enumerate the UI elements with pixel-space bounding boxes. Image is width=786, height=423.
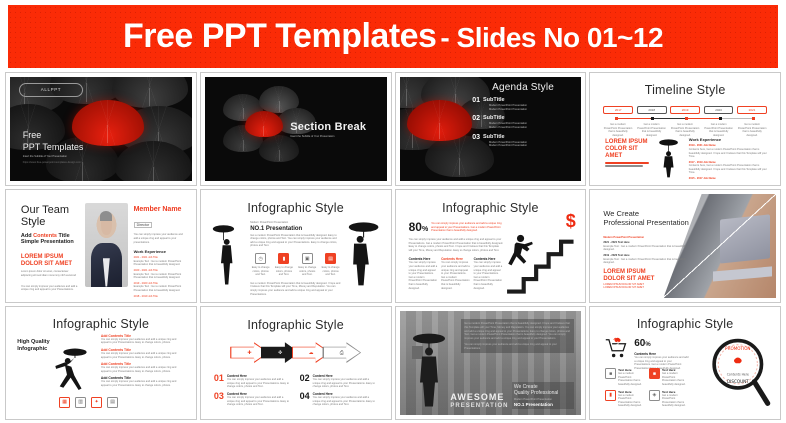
numbered-item: 04 Content Here You can simply impress y… <box>300 392 378 407</box>
slide-11-text-panel: Get a modern PowerPoint Presentation tha… <box>461 319 574 353</box>
slide-11-canvas: Get a modern PowerPoint Presentation tha… <box>400 311 582 415</box>
briefcase-icon: ▮ <box>278 253 289 264</box>
timeline-caption: Get a modern PowerPoint Presentation tha… <box>704 123 733 137</box>
slide-11-right-block: We Create Quality Professional Modern Po… <box>512 382 574 409</box>
slide-11-right-headline: NO.1 Presentation <box>514 402 572 407</box>
clock-icon: ◷ <box>255 253 266 264</box>
arrow-step-4[interactable]: ⎙ <box>322 342 361 363</box>
info-card[interactable]: ▮ Text Here Get a modern PowerPoint Pres… <box>605 390 645 408</box>
timeline-year-badge: 2018 <box>637 106 667 114</box>
monitor-icon: ▣ <box>302 253 313 264</box>
column-body: You can simply impress your audience and… <box>474 261 504 290</box>
slide-11-right-line2: Quality Professional <box>514 390 572 396</box>
member-role: Director <box>134 222 153 228</box>
stat-value: 60% <box>634 338 689 351</box>
slide-11-body: Get a modern PowerPoint Presentation tha… <box>464 322 571 340</box>
banner-title: Free PPT Templates - Slides No 01~12 <box>123 17 663 56</box>
icon-card-caption: Easy to change colors, photos and Text. <box>250 266 271 277</box>
timeline: 2017 2018 2019 2020 2021 Get a modern Po… <box>603 106 767 137</box>
slide-05-body: You can simply impress your audience and… <box>21 285 79 292</box>
slide-02-canvas: Section Break Insert the Subtitle of You… <box>205 77 387 181</box>
timeline-node <box>651 117 654 120</box>
slide-08-eyebrow: Modern PowerPoint Presentation <box>603 236 690 240</box>
slide-06-footer: Get a modern PowerPoint Presentation tha… <box>250 282 341 296</box>
content-row-body: You can simply impress your audience and… <box>101 380 185 387</box>
info-card[interactable]: ■ Text Here Get a modern PowerPoint Pres… <box>649 368 689 386</box>
slide-06-headline: NO.1 Presentation <box>250 226 341 232</box>
slide-02-title-block: Section Break Insert the Subtitle of You… <box>290 121 377 139</box>
slide-thumbnail-12[interactable]: Infographic Style $ 60% Contents Here Yo… <box>589 306 781 420</box>
slide-09-rows: Add Contents Title You can simply impres… <box>101 334 185 388</box>
agenda-item-label: SubTitle <box>483 134 574 140</box>
timeline-caption: Get a modern PowerPoint Presentation tha… <box>737 123 766 137</box>
slide-08-text: We Create Professional Presentation Mode… <box>603 209 690 265</box>
umbrella-dark <box>259 135 299 162</box>
slide-thumbnail-06[interactable]: Infographic Style Modern PowerPoint Pres… <box>200 189 392 303</box>
slide-thumbnail-grid: ALLPPT Free PPT Templates Insert the Sub… <box>5 72 781 420</box>
agenda-item: 02 SubTitle Modern PowerPoint Presentati… <box>472 115 574 129</box>
slide-12-cards: ■ Text Here Get a modern PowerPoint Pres… <box>605 368 689 408</box>
numbered-item-body: You can simply impress your audience and… <box>227 396 292 407</box>
calendar-icon[interactable]: ▥ <box>75 397 86 408</box>
slide-03-canvas: Agenda Style 01 SubTitle Modern PowerPoi… <box>400 77 582 181</box>
slide-08-canvas: We Create Professional Presentation Mode… <box>594 194 776 298</box>
agenda-item-bullet: Modern PowerPoint Presentation <box>489 144 574 148</box>
slide-10-title: Infographic Style <box>205 318 387 332</box>
slide-11-title-line2: PRESENTATION <box>450 403 508 409</box>
experience-desc: Example Text : Get a modern PowerPoint P… <box>134 260 185 267</box>
cloud-icon: ☁ <box>309 350 314 356</box>
slide-thumbnail-04[interactable]: Timeline Style 2017 2018 2019 2020 2021 <box>589 72 781 186</box>
agenda-item: 01 SubTitle Modern PowerPoint Presentati… <box>472 97 574 111</box>
experience-header: Work Experience <box>134 249 185 254</box>
banner-title-sub: - Slides No 01~12 <box>440 22 663 53</box>
work-item-desc: Contents here, Get a modern PowerPoint P… <box>689 148 769 159</box>
timeline-node <box>615 117 618 120</box>
member-name: Member Name <box>134 206 185 213</box>
slide-05-left: Our Team Style Add Contents Title Simple… <box>21 204 79 291</box>
column-body: You can simply impress your audience and… <box>409 261 439 290</box>
umbrella-red <box>245 111 283 137</box>
numbered-item-body: You can simply impress your audience and… <box>313 396 378 407</box>
printer-icon: ⎙ <box>340 350 344 356</box>
lorem-line-1: LOREM IPSUM <box>605 139 656 146</box>
timeline-year-badge: 2017 <box>603 106 633 114</box>
slide-08-lorem: LOREM IPSUM DOLOR SIT AMET LOREM IPSUM D… <box>603 269 654 290</box>
slide-01-title-line2: PPT Templates <box>23 141 84 153</box>
timeline-year-badge: 2019 <box>670 106 700 114</box>
icon-card[interactable]: ▣ Easy to change colors, photos and Text… <box>297 253 318 277</box>
pause-icon: ▮ <box>605 390 616 401</box>
slide-12-stat-block: 60% Contents Here You can simply impress… <box>634 338 689 370</box>
icon-card-caption: Easy to change colors, photos and Text. <box>320 266 341 277</box>
timeline-node <box>719 117 722 120</box>
slide-08-title-line1: We Create <box>603 209 690 218</box>
slide-11-title-block: AWESOME PRESENTATION <box>450 392 508 409</box>
slide-04-title: Timeline Style <box>594 83 776 97</box>
server-icon[interactable]: ▤ <box>107 397 118 408</box>
square-icon: ■ <box>649 368 660 379</box>
info-card-body: Get a modern PowerPoint Presentation tha… <box>662 394 689 408</box>
slide-01-canvas: ALLPPT Free PPT Templates Insert the Sub… <box>10 77 192 181</box>
agenda-item-number: 03 <box>472 134 480 141</box>
icon-card[interactable]: ▤ Easy to change colors, photos and Text… <box>320 253 341 277</box>
slide-07-intro: You can simply impress your audience and… <box>409 238 504 252</box>
logo-label: ALLPPT <box>41 87 61 92</box>
slide-07-left: 80% You can simply impress your audience… <box>409 221 504 290</box>
slide-01-subtitle: Insert the Subtitle of Your Presentation <box>23 155 74 159</box>
numbered-items: 01 Content Here You can simply impress y… <box>214 374 378 407</box>
icon-card-caption: Easy to change colors, photos and Text. <box>297 266 318 277</box>
banner-title-main: Free PPT Templates <box>123 17 437 55</box>
column-body: You can simply impress your audience and… <box>441 261 471 290</box>
slide-09-title: Infographic Style <box>10 317 192 331</box>
slide-05-right: Member Name Director You can simply impr… <box>134 206 185 298</box>
slide-01-title-block: Free PPT Templates Insert the Subtitle o… <box>23 129 84 164</box>
agenda-item-label: SubTitle <box>483 97 574 103</box>
content-row: Add Contents Title You can simply impres… <box>101 348 185 359</box>
slide-02-subtitle: Insert the Subtitle of Your Presentation <box>290 135 377 139</box>
lorem-line-2: COLOR SIT AMET <box>605 146 656 160</box>
work-item-desc: Contents here, Get a modern PowerPoint P… <box>689 164 769 175</box>
svg-text:Contents Here: Contents Here <box>727 372 749 376</box>
slide-08-lorem-line2: DOLOR SIT AMET <box>603 276 654 283</box>
numbered-item-body: You can simply impress your audience and… <box>227 378 292 389</box>
slide-12-canvas: Infographic Style $ 60% Contents Here Yo… <box>594 311 776 415</box>
slide-11-title-line1: AWESOME <box>450 392 508 403</box>
slide-06-eyebrow: Modern PowerPoint Presentation <box>250 221 341 225</box>
slide-thumbnail-03[interactable]: Agenda Style 01 SubTitle Modern PowerPoi… <box>395 72 587 186</box>
timeline-node <box>685 117 688 120</box>
icon-card[interactable]: ◷ Easy to change colors, photos and Text… <box>250 253 271 277</box>
numbered-item: 01 Content Here You can simply impress y… <box>214 374 292 389</box>
info-card-body: Get a modern PowerPoint Presentation tha… <box>618 372 645 386</box>
numbered-item-body: You can simply impress your audience and… <box>313 378 378 389</box>
magnifier-icon: PROMOTION DISCOUNT $ Contents Here <box>709 334 771 411</box>
chart-icon[interactable]: ▦ <box>59 397 70 408</box>
icon-card-caption: Easy to change colors, photos and Text. <box>274 266 295 277</box>
slide-thumbnail-05[interactable]: Our Team Style Add Contents Title Simple… <box>5 189 197 303</box>
member-photo <box>85 203 129 286</box>
icon-card-row: ◷ Easy to change colors, photos and Text… <box>250 253 341 277</box>
agenda-item-number: 02 <box>472 115 480 122</box>
slide-08-item-desc: Example Text : Get a modern PowerPoint P… <box>603 245 690 252</box>
info-card-body: Get a modern PowerPoint Presentation tha… <box>662 372 689 386</box>
slide-11-body2: You can simply impress your audience and… <box>464 343 571 350</box>
dancer-umbrella-silhouette <box>43 330 94 405</box>
slide-thumbnail-09[interactable]: Infographic Style High Quality Infograph… <box>5 306 197 420</box>
content-row-body: You can simply impress your audience and… <box>101 352 185 359</box>
slide-08-title-line2: Professional Presentation <box>603 218 690 227</box>
umbrella-red <box>407 100 472 142</box>
slide-01-title-line1: Free <box>23 129 84 141</box>
svg-text:$: $ <box>616 341 619 347</box>
column-row: Contents Here You can simply impress you… <box>409 257 504 290</box>
woman-umbrella-silhouette-left <box>212 217 245 290</box>
stop-icon: ■ <box>605 368 616 379</box>
numbered-item-number: 03 <box>214 392 224 407</box>
slide-thumbnail-08[interactable]: We Create Professional Presentation Mode… <box>589 189 781 303</box>
info-card[interactable]: ■ Text Here Get a modern PowerPoint Pres… <box>605 368 645 386</box>
content-row: Add Contents Title You can simply impres… <box>101 334 185 345</box>
slide-01-footnote: https://www.free-powerpoint-templates-de… <box>23 161 84 165</box>
rocket-icon[interactable]: ✦ <box>91 397 102 408</box>
slide-05-canvas: Our Team Style Add Contents Title Simple… <box>10 194 192 298</box>
slide-08-lorem-line1: LOREM IPSUM <box>603 269 654 276</box>
slide-thumbnail-10[interactable]: Infographic Style ✚ ✜ ☁ ⎙ <box>200 306 392 420</box>
arrow-chain: ✚ ✜ ☁ ⎙ <box>230 342 361 363</box>
content-row-body: You can simply impress your audience and… <box>101 338 185 345</box>
man-umbrella-silhouette <box>409 326 449 407</box>
man-umbrella-silhouette-right <box>341 213 381 290</box>
timeline-track <box>603 116 767 121</box>
agenda-item: 03 SubTitle Modern PowerPoint Presentati… <box>472 134 574 148</box>
slide-05-title-line2: Style <box>21 216 79 228</box>
puzzle-icon: ✜ <box>278 350 282 356</box>
page-header-banner: Free PPT Templates - Slides No 01~12 <box>8 5 778 68</box>
numbered-item: 02 Content Here You can simply impress y… <box>300 374 378 389</box>
numbered-item-number: 01 <box>214 374 224 389</box>
slide-06-content: Modern PowerPoint Presentation NO.1 Pres… <box>250 221 341 296</box>
document-icon: ▤ <box>325 253 336 264</box>
numbered-item: 03 Content Here You can simply impress y… <box>214 392 292 407</box>
member-desc: You can simply impress your audience and… <box>134 233 185 244</box>
slide-02-title: Section Break <box>290 121 377 133</box>
slide-thumbnail-02[interactable]: Section Break Insert the Subtitle of You… <box>200 72 392 186</box>
pin-icon: ◈ <box>649 390 660 401</box>
agenda-item-bullet: Modern PowerPoint Presentation <box>489 108 574 112</box>
slide-05-subtitle-line2: Simple Presentation <box>21 239 79 245</box>
lorem-block: LOREM IPSUM COLOR SIT AMET <box>605 139 656 168</box>
slide-07-title: Infographic Style <box>400 201 582 215</box>
dollar-sign-icon: $ <box>566 212 576 230</box>
numbered-item-number: 02 <box>300 374 310 389</box>
experience-desc: Example Text : Get a modern PowerPoint P… <box>134 273 185 280</box>
slide-12-title: Infographic Style <box>594 317 776 331</box>
stat-note: You can simply impress your audience and… <box>431 222 503 233</box>
numbered-item-number: 04 <box>300 392 310 407</box>
slide-03-content: Agenda Style 01 SubTitle Modern PowerPoi… <box>472 82 574 148</box>
person-umbrella-silhouette <box>654 135 683 179</box>
slide-thumbnail-01[interactable]: ALLPPT Free PPT Templates Insert the Sub… <box>5 72 197 186</box>
svg-text:PROMOTION: PROMOTION <box>725 346 750 351</box>
logo-badge: ALLPPT <box>19 83 83 96</box>
work-experience-block: Work Experience 2019 - 2021 Job Name Con… <box>689 137 769 181</box>
slide-thumbnail-11[interactable]: Get a modern PowerPoint Presentation tha… <box>395 306 587 420</box>
icon-row: ▦ ▥ ✦ ▤ <box>59 397 118 408</box>
plus-icon: ✚ <box>247 350 251 356</box>
slide-04-canvas: Timeline Style 2017 2018 2019 2020 2021 <box>594 77 776 181</box>
slide-05-lorem-desc: Lorem ipsum dolor sit amet, consectetuer… <box>21 270 79 277</box>
timeline-year-badge: 2020 <box>704 106 734 114</box>
slide-09-canvas: Infographic Style High Quality Infograph… <box>10 311 192 415</box>
timeline-year-badge: 2021 <box>737 106 767 114</box>
slide-06-body: Get a modern PowerPoint Presentation tha… <box>250 234 341 248</box>
column: Contents Here You can simply impress you… <box>441 257 471 290</box>
slide-05-title-line1: Our Team <box>21 204 79 216</box>
agenda-item-label: SubTitle <box>483 115 574 121</box>
slide-05-lorem-line2: DOLOR SIT AMET <box>21 261 79 268</box>
content-row-body: You can simply impress your audience and… <box>101 366 185 373</box>
agenda-item-number: 01 <box>472 97 480 104</box>
slide-05-lorem-line1: LOREM IPSUM <box>21 254 79 261</box>
shopping-cart-icon: $ <box>605 337 629 360</box>
icon-card[interactable]: ▮ Easy to change colors, photos and Text… <box>274 253 295 277</box>
info-card-body: Get a modern PowerPoint Presentation tha… <box>618 394 645 408</box>
work-experience-header: Work Experience <box>689 137 769 142</box>
svg-text:DISCOUNT: DISCOUNT <box>727 379 749 384</box>
running-man-silhouette <box>505 225 538 289</box>
slide-07-canvas: Infographic Style 80% You can simply imp… <box>400 194 582 298</box>
slide-06-canvas: Infographic Style Modern PowerPoint Pres… <box>205 194 387 298</box>
timeline-caption: Get a modern PowerPoint Presentation tha… <box>603 123 632 137</box>
slide-thumbnail-07[interactable]: Infographic Style 80% You can simply imp… <box>395 189 587 303</box>
svg-text:$: $ <box>735 362 740 371</box>
timeline-node <box>752 117 755 120</box>
slide-10-canvas: Infographic Style ✚ ✜ ☁ ⎙ <box>205 311 387 415</box>
info-card[interactable]: ◈ Text Here Get a modern PowerPoint Pres… <box>649 390 689 408</box>
stat-value: 80% <box>409 221 429 236</box>
slide-08-lorem-sub2: LOREM IPSUM DOLOR SIT AMET <box>603 286 654 290</box>
column: Contents Here You can simply impress you… <box>409 257 439 290</box>
content-row: Add Contents Title You can simply impres… <box>101 376 185 387</box>
content-row: Add Contents Title You can simply impres… <box>101 362 185 373</box>
slide-08-item-desc: Example Text : Get a modern PowerPoint P… <box>603 258 690 265</box>
experience-desc: Example Text : Get a modern PowerPoint P… <box>134 285 185 292</box>
agenda-item-bullet: Modern PowerPoint Presentation <box>489 126 574 130</box>
column: Contents Here You can simply impress you… <box>474 257 504 290</box>
slide-03-title: Agenda Style <box>472 82 574 93</box>
